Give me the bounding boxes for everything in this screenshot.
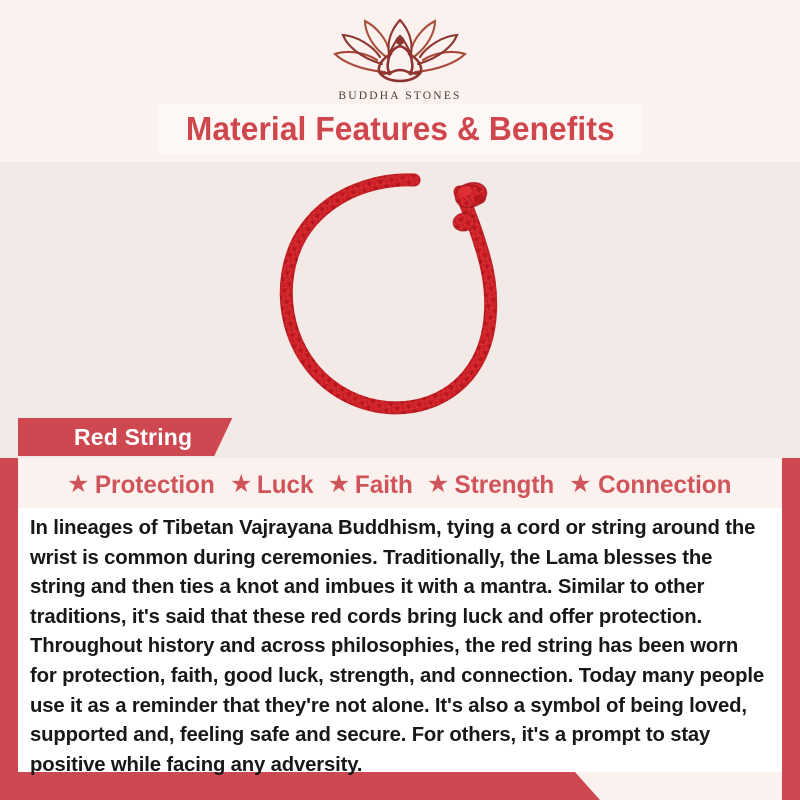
benefit-label: Protection xyxy=(95,471,215,500)
benefits-list: ★ Protection ★ Luck ★ Faith ★ Strength ★… xyxy=(18,464,782,506)
benefit-item: ★ Connection xyxy=(569,471,733,500)
star-icon: ★ xyxy=(427,472,449,497)
star-icon: ★ xyxy=(569,472,591,497)
header: BUDDHA STONES Material Features & Benefi… xyxy=(0,0,800,162)
lotus-meditation-icon xyxy=(325,14,475,88)
infographic-root: BUDDHA STONES Material Features & Benefi… xyxy=(0,0,800,800)
page-title: Material Features & Benefits xyxy=(158,104,642,154)
benefit-label: Faith xyxy=(355,471,413,500)
benefit-label: Luck xyxy=(257,471,314,500)
star-icon: ★ xyxy=(328,472,350,497)
brand-logo: BUDDHA STONES xyxy=(0,14,800,102)
product-image-panel xyxy=(0,162,800,458)
page-title-text: Material Features & Benefits xyxy=(186,110,615,148)
benefit-item: ★ Faith xyxy=(328,471,414,500)
material-label-banner: Red String xyxy=(18,418,232,456)
description-panel: In lineages of Tibetan Vajrayana Buddhis… xyxy=(18,508,782,772)
benefit-item: ★ Strength xyxy=(427,471,556,500)
red-string-bracelet-image xyxy=(268,164,536,432)
description-text: In lineages of Tibetan Vajrayana Buddhis… xyxy=(30,514,768,780)
benefit-label: Strength xyxy=(455,471,555,500)
benefit-item: ★ Luck xyxy=(230,471,315,500)
star-icon: ★ xyxy=(67,472,89,497)
benefit-item: ★ Protection xyxy=(67,471,217,500)
benefit-label: Connection xyxy=(598,471,731,500)
material-label-text: Red String xyxy=(74,424,192,451)
star-icon: ★ xyxy=(230,472,252,497)
brand-name: BUDDHA STONES xyxy=(0,90,800,102)
